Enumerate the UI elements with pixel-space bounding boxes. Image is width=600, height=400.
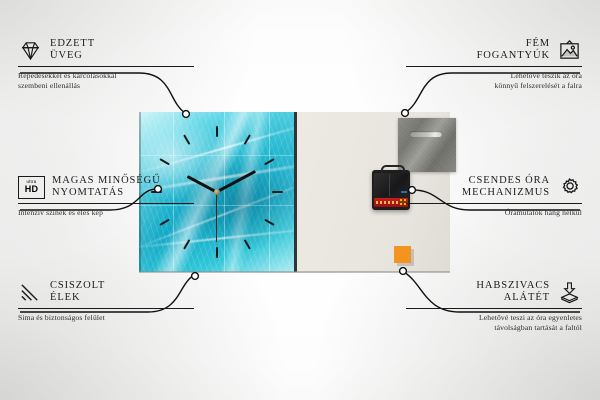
callout-divider — [18, 66, 194, 67]
ultra-hd-icon: ultra HD — [18, 176, 45, 199]
callout-title-line2: NYOMTATÁS — [52, 187, 161, 199]
callout-subtitle-line1: Lehetővé teszik az óra — [406, 71, 582, 81]
callout-title-line2: ÉLEK — [50, 292, 105, 304]
callout-title-line1: FÉM — [477, 38, 550, 50]
callout-divider — [18, 308, 194, 309]
callout-subtitle-line1: Óramutatók hang nélkül — [406, 208, 582, 218]
callout-divider — [406, 203, 582, 204]
clock-second-hand — [216, 192, 217, 242]
clock-tick — [183, 239, 190, 250]
callout-csiszolt-elek[interactable]: CSISZOLT ÉLEK Sima és biztonságos felüle… — [18, 280, 194, 323]
callout-title-line2: ALÁTÉT — [476, 292, 550, 304]
callout-divider — [18, 203, 194, 204]
callout-edzett-uveg[interactable]: EDZETT ÜVEG Repedésekkel és karcolásokka… — [18, 38, 194, 91]
polished-edge-icon — [18, 281, 43, 304]
callout-subtitle-line2: távolságban tartását a faltól — [406, 323, 582, 333]
clock-movement-box — [372, 170, 410, 210]
callout-subtitle-line1: Intenzív színek és éles kép — [18, 208, 194, 218]
clock-minute-hand — [216, 170, 256, 193]
clock-tick — [216, 247, 218, 258]
callout-title-line2: ÜVEG — [50, 50, 95, 62]
gear-icon — [557, 176, 582, 199]
metal-hanger-plate — [398, 118, 456, 172]
callout-title-line1: MAGAS MINŐSÉGŰ — [52, 175, 161, 187]
callout-habszivacs-alatet[interactable]: HABSZIVACS ALÁTÉT Lehetővé teszi az óra … — [406, 280, 582, 333]
callout-divider — [406, 308, 582, 309]
callout-subtitle-line2: szembeni ellenállás — [18, 81, 194, 91]
clock-tick — [243, 134, 250, 145]
product-baseline — [139, 271, 450, 273]
callout-title-line1: CSENDES ÓRA — [462, 175, 550, 187]
callout-csendes-ora-mechanizmus[interactable]: CSENDES ÓRA MECHANIZMUS Óramutatók hang … — [406, 175, 582, 218]
clock-tick — [272, 191, 283, 193]
callout-fem-fogantyuk[interactable]: FÉM FOGANTYÚK Lehetővé teszik az óra kön… — [406, 38, 582, 91]
callout-subtitle-line1: Sima és biztonságos felület — [18, 313, 194, 323]
clock-center-cap — [214, 189, 220, 195]
picture-hanger-icon — [557, 39, 582, 62]
diamond-icon — [18, 39, 43, 62]
clock-tick — [159, 158, 170, 165]
callout-title-line1: EDZETT — [50, 38, 95, 50]
callout-subtitle-line2: könnyű felszerelését a falra — [406, 81, 582, 91]
battery — [374, 198, 408, 207]
ultra-hd-large-label: HD — [25, 185, 38, 194]
clock-tick — [243, 239, 250, 250]
clock-tick — [264, 219, 275, 226]
panel-edge — [294, 112, 297, 272]
foam-pad — [394, 246, 411, 263]
hanger-keyhole-slot — [410, 131, 442, 137]
clock-tick — [264, 158, 275, 165]
callout-divider — [406, 66, 582, 67]
foam-pad-icon — [557, 281, 582, 304]
callout-subtitle-line1: Lehetővé teszi az óra egyenletes — [406, 313, 582, 323]
movement-body — [374, 173, 408, 197]
clock-tick — [216, 126, 218, 137]
callout-title-line1: CSISZOLT — [50, 280, 105, 292]
callout-title-line2: FOGANTYÚK — [477, 50, 550, 62]
clock-tick — [183, 134, 190, 145]
clock-tick — [159, 219, 170, 226]
infographic-canvas: EDZETT ÜVEG Repedésekkel és karcolásokka… — [0, 0, 600, 400]
callout-title-line2: MECHANIZMUS — [462, 187, 550, 199]
callout-title-line1: HABSZIVACS — [476, 280, 550, 292]
callout-magas-minosegu-nyomtatas[interactable]: ultra HD MAGAS MINŐSÉGŰ NYOMTATÁS Intenz… — [18, 175, 194, 218]
callout-subtitle-line1: Repedésekkel és karcolásokkal — [18, 71, 194, 81]
